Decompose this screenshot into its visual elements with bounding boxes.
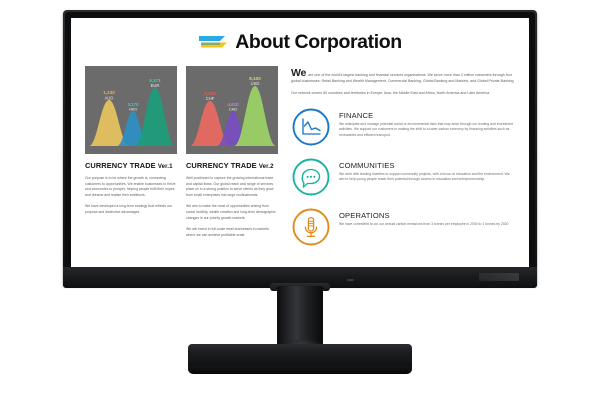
feature-row-operations[interactable]: OPERATIONS We have committed to cut our … — [291, 207, 515, 247]
feature-title-communities: COMMUNITIES — [339, 161, 515, 170]
currency-trade-chart-2[interactable]: 2,120 CHF 4,610 CAD 8,100 — [186, 66, 278, 154]
feature-row-communities[interactable]: COMMUNITIES We work with leading chariti… — [291, 157, 515, 197]
chart-2-label-cad-currency: CAD — [229, 107, 238, 112]
page-title: About Corporation — [235, 33, 402, 53]
feature-text-finance: FINANCE We anticipate and manage potenti… — [339, 107, 515, 138]
feature-text-operations: OPERATIONS We have committed to cut our … — [339, 207, 508, 227]
line-chart-icon — [291, 107, 331, 147]
chart-2-canvas: 2,120 CHF 4,610 CAD 8,100 — [186, 66, 278, 154]
microphone-icon — [291, 207, 331, 247]
monitor-stand-base-front-edge — [188, 366, 412, 374]
chart-column-2: 2,120 CHF 4,610 CAD 8,100 — [186, 66, 278, 247]
column-2-paragraph-3: We will invest in full-scale retail busi… — [186, 227, 278, 238]
feature-body-finance: We anticipate and manage potential socia… — [339, 122, 515, 138]
column-1-paragraph-1: Our purpose is to be where the growth is… — [85, 176, 177, 198]
intro-lead-word: We — [291, 67, 306, 79]
slide-header: About Corporation — [85, 28, 515, 58]
monitor-screen[interactable]: About Corporation 1,230 AUD — [71, 18, 529, 267]
column-2-paragraph-1: Well positioned to capture the growing i… — [186, 176, 278, 198]
feature-title-finance: FINANCE — [339, 111, 515, 120]
brand-logo-plate — [479, 273, 519, 281]
chart-1-label-aud-value: 1,230 — [103, 90, 115, 95]
chart-2-label-usd-currency: USD — [251, 81, 260, 86]
chart-1-label-aud-currency: AUD — [105, 95, 114, 100]
chart-caption-1-main: CURRENCY TRADE — [85, 161, 156, 170]
currency-trade-chart-1[interactable]: 1,230 AUD 3,170 HKD 5,171 — [85, 66, 177, 154]
double-arrow-logo-icon — [198, 33, 228, 53]
chart-column-1: 1,230 AUD 3,170 HKD 5,171 — [85, 66, 177, 247]
power-led-indicator — [347, 279, 354, 281]
intro-lead-paragraph: Weare one of the world's largest banking… — [291, 68, 515, 85]
chart-caption-2-version: Ver.2 — [259, 163, 274, 170]
monitor-assembly: About Corporation 1,230 AUD — [0, 0, 600, 400]
feature-title-operations: OPERATIONS — [339, 211, 508, 220]
feature-body-communities: We work with leading charities to suppor… — [339, 172, 515, 183]
chart-2-label-chf-currency: CHF — [206, 96, 215, 101]
chart-caption-2-main: CURRENCY TRADE — [186, 161, 257, 170]
presentation-slide: About Corporation 1,230 AUD — [71, 18, 529, 267]
chart-1-label-hkd-currency: HKD — [129, 107, 138, 112]
feature-row-finance[interactable]: FINANCE We anticipate and manage potenti… — [291, 107, 515, 147]
column-1-paragraph-2: We have developed a long-term strategy t… — [85, 204, 177, 215]
speech-bubble-icon — [291, 157, 331, 197]
intro-block: Weare one of the world's largest banking… — [291, 68, 515, 97]
monitor-stand-neck — [277, 286, 323, 348]
column-2-paragraph-2: We aim to make the most of opportunities… — [186, 204, 278, 221]
chart-1-label-eur-currency: EUR — [151, 83, 160, 88]
slide-body: 1,230 AUD 3,170 HKD 5,171 — [85, 66, 515, 247]
right-panel: Weare one of the world's largest banking… — [287, 66, 515, 247]
chart-caption-1-version: Ver.1 — [158, 163, 173, 170]
chart-caption-1: CURRENCY TRADE Ver.1 — [85, 161, 177, 170]
feature-body-operations: We have committed to cut our annual carb… — [339, 222, 508, 227]
chart-caption-2: CURRENCY TRADE Ver.2 — [186, 161, 278, 170]
feature-text-communities: COMMUNITIES We work with leading chariti… — [339, 157, 515, 183]
intro-secondary-paragraph: Our network covers 50 countries and terr… — [291, 91, 515, 97]
chart-1-canvas: 1,230 AUD 3,170 HKD 5,171 — [85, 66, 177, 154]
intro-lead-text: are one of the world's largest banking a… — [291, 73, 514, 83]
